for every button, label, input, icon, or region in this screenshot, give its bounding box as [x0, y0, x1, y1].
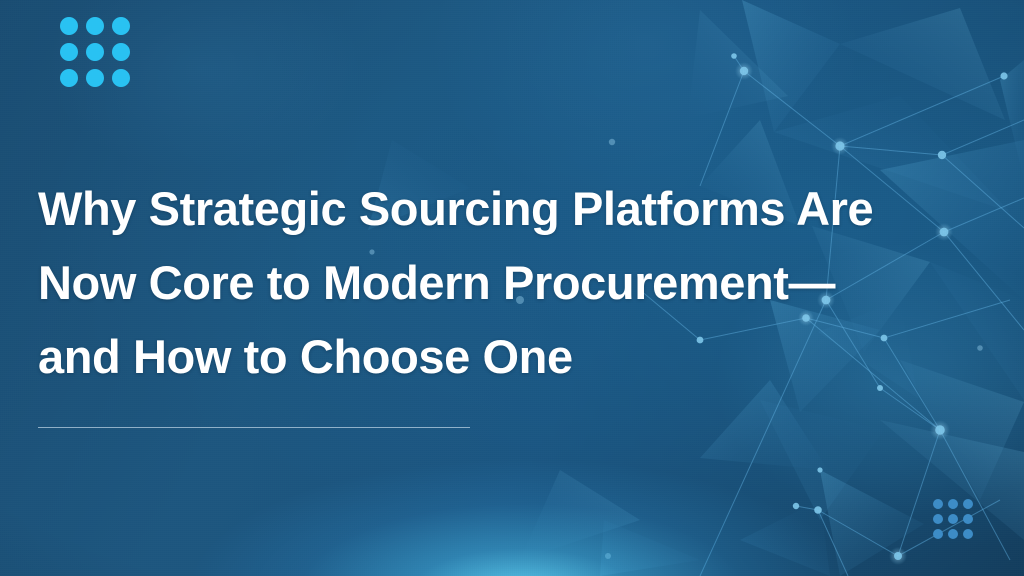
accent-dot-1: [933, 499, 943, 509]
logo-dot-3: [112, 17, 130, 35]
accent-dot-grid: [933, 499, 973, 539]
logo-dot-7: [60, 69, 78, 87]
logo-dot-8: [86, 69, 104, 87]
title-divider-rule: [38, 427, 470, 428]
title-slide: Why Strategic Sourcing Platforms Are Now…: [0, 0, 1024, 576]
brand-logo[interactable]: [60, 17, 130, 87]
logo-dot-5: [86, 43, 104, 61]
headline-block: Why Strategic Sourcing Platforms Are Now…: [38, 172, 1018, 394]
accent-dot-3: [963, 499, 973, 509]
accent-dot-6: [963, 514, 973, 524]
logo-dot-1: [60, 17, 78, 35]
accent-dot-9: [963, 529, 973, 539]
logo-dot-6: [112, 43, 130, 61]
accent-dot-4: [933, 514, 943, 524]
logo-dot-9: [112, 69, 130, 87]
logo-dot-4: [60, 43, 78, 61]
accent-dot-5: [948, 514, 958, 524]
logo-dot-2: [86, 17, 104, 35]
accent-dot-8: [948, 529, 958, 539]
page-title: Why Strategic Sourcing Platforms Are Now…: [38, 172, 1018, 394]
accent-dot-7: [933, 529, 943, 539]
accent-dot-2: [948, 499, 958, 509]
